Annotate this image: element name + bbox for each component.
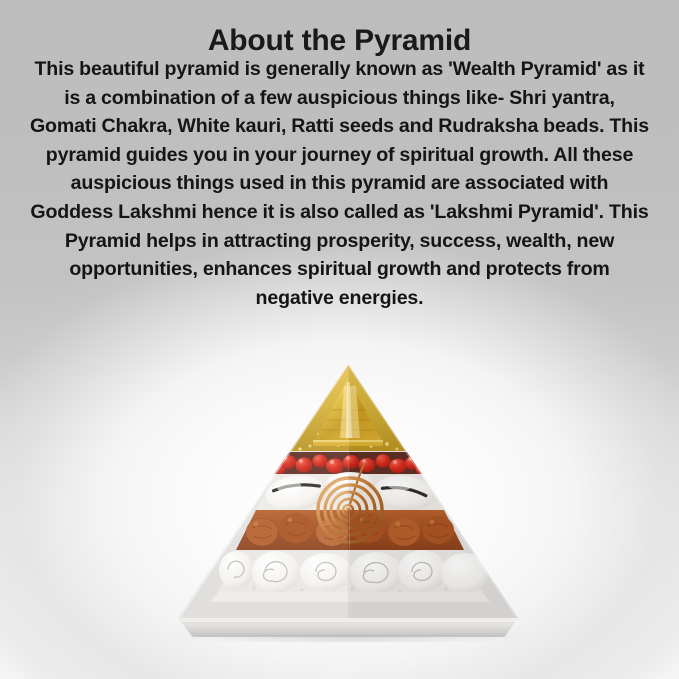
description-line: negative energies. [4, 284, 675, 313]
pyramid-right-shading [348, 364, 518, 618]
description-line: pyramid guides you in your journey of sp… [4, 141, 675, 170]
pyramid-illustration [150, 352, 550, 642]
description-line: is a combination of a few auspicious thi… [4, 84, 675, 113]
description-line: Goddess Lakshmi hence it is also called … [4, 198, 675, 227]
pyramid-base-slab [178, 618, 518, 637]
description-line: opportunities, enhances spiritual growth… [4, 255, 675, 284]
description-line: auspicious things used in this pyramid a… [4, 169, 675, 198]
description-line: This beautiful pyramid is generally know… [4, 55, 675, 84]
about-description: This beautiful pyramid is generally know… [4, 55, 675, 312]
description-line: Gomati Chakra, White kauri, Ratti seeds … [4, 112, 675, 141]
pyramid-product-image [150, 352, 550, 642]
description-line: Pyramid helps in attracting prosperity, … [4, 227, 675, 256]
page-root: About the Pyramid This beautiful pyramid… [0, 0, 679, 679]
